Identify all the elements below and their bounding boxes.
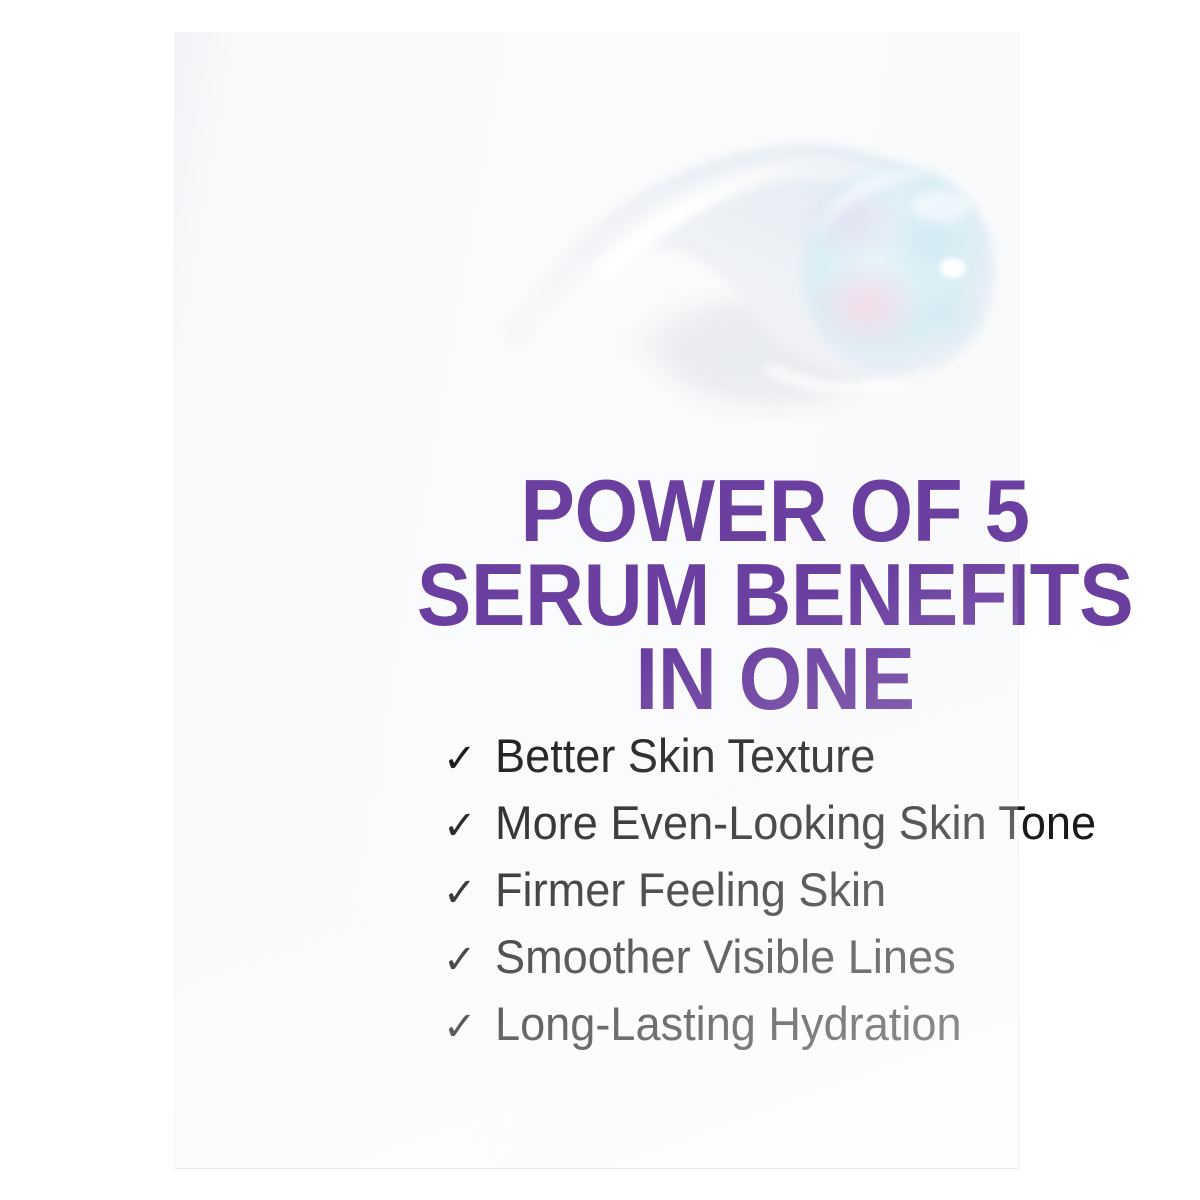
product-claim-graphic: POWER OF 5 SERUM BENEFITS IN ONE ✓ Bette… [0, 0, 1200, 1200]
headline-line-3: IN ONE [217, 637, 1200, 721]
check-icon: ✓ [443, 1007, 495, 1047]
product-card-panel: POWER OF 5 SERUM BENEFITS IN ONE ✓ Bette… [175, 32, 1018, 1168]
benefit-label: Firmer Feeling Skin [495, 856, 886, 923]
page-title: POWER OF 5 SERUM BENEFITS IN ONE [217, 469, 1200, 721]
list-item: ✓ Smoother Visible Lines [443, 923, 1200, 990]
benefit-label: Smoother Visible Lines [495, 923, 956, 990]
benefit-label: More Even-Looking Skin Tone [495, 789, 1096, 856]
benefit-label: Better Skin Texture [495, 722, 875, 789]
check-icon: ✓ [443, 739, 495, 779]
check-icon: ✓ [443, 806, 495, 846]
headline-line-2: SERUM BENEFITS [217, 553, 1200, 637]
list-item: ✓ Firmer Feeling Skin [443, 856, 1200, 923]
check-icon: ✓ [443, 940, 495, 980]
list-item: ✓ More Even-Looking Skin Tone [443, 789, 1200, 856]
list-item: ✓ Better Skin Texture [443, 722, 1200, 789]
serum-swatch-artwork [475, 110, 1075, 420]
benefits-list: ✓ Better Skin Texture ✓ More Even-Lookin… [443, 722, 1200, 1057]
headline-line-1: POWER OF 5 [217, 469, 1200, 553]
benefit-label: Long-Lasting Hydration [495, 990, 962, 1057]
list-item: ✓ Long-Lasting Hydration [443, 990, 1200, 1057]
check-icon: ✓ [443, 873, 495, 913]
